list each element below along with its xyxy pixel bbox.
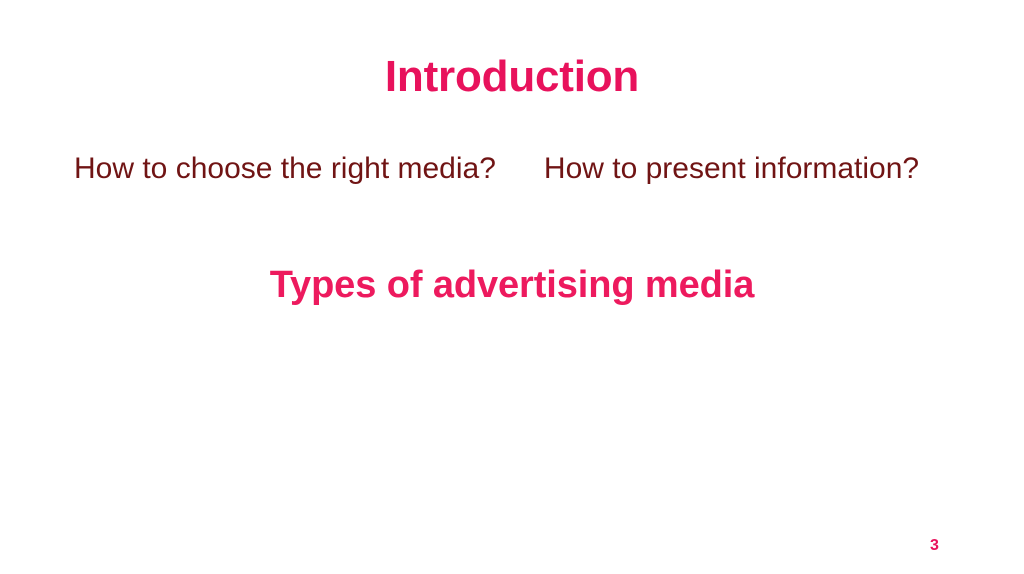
subheading-types-of-advertising-media: Types of advertising media (0, 264, 1024, 308)
question-row: How to choose the right media? How to pr… (0, 152, 1024, 187)
question-present-information: How to present information? (544, 152, 919, 187)
page-number: 3 (930, 538, 939, 554)
slide: Introduction How to choose the right med… (0, 0, 1024, 574)
slide-title: Introduction (0, 52, 1024, 101)
question-choose-media: How to choose the right media? (74, 152, 496, 187)
